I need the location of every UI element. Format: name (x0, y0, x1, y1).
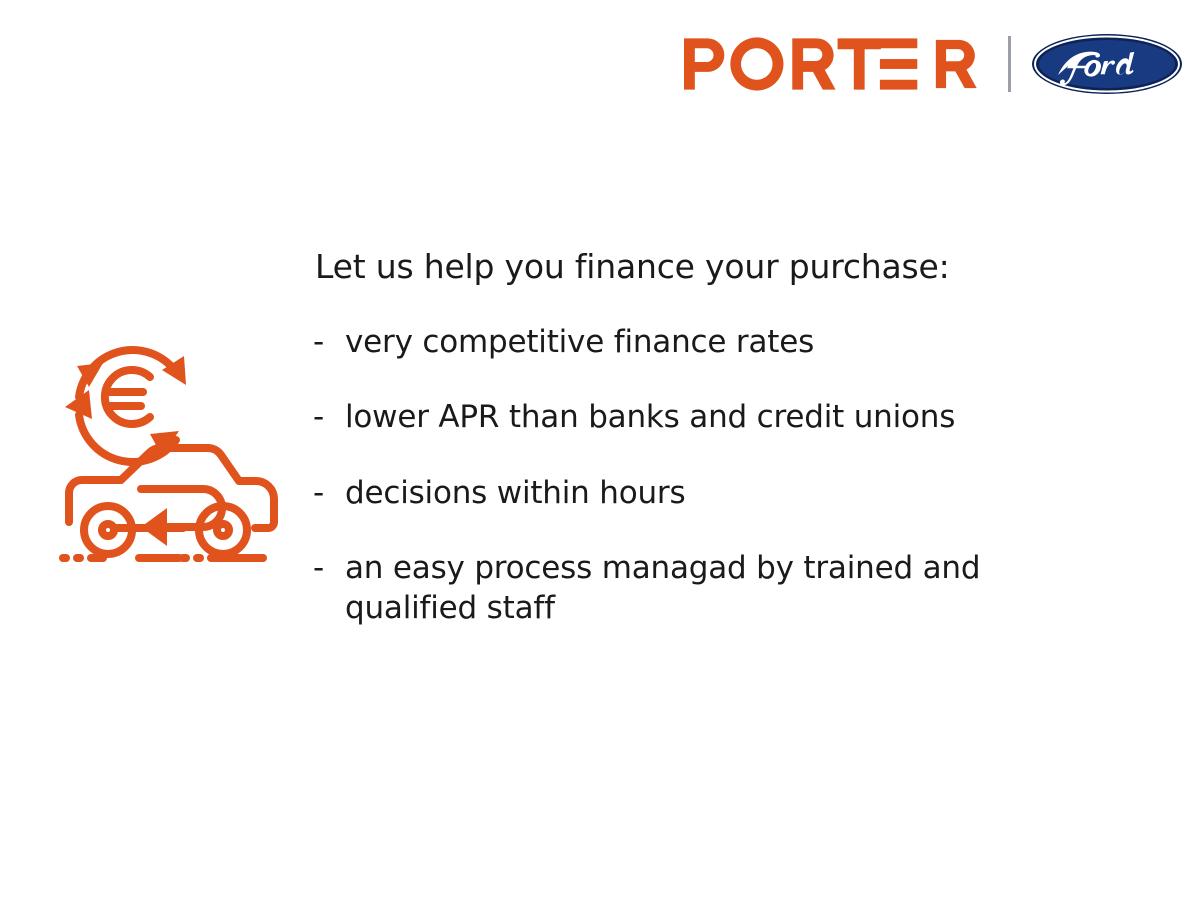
brand-logo-lockup (684, 32, 1183, 96)
finance-copy-block: Let us help you finance your purchase: -… (313, 248, 1113, 628)
list-item: - decisions within hours (313, 473, 1113, 513)
finance-promo-slide: Let us help you finance your purchase: -… (0, 0, 1200, 900)
list-item-label: decisions within hours (345, 473, 1113, 513)
bullet-marker: - (313, 397, 345, 437)
bullet-marker: - (313, 322, 345, 362)
list-item: - very competitive finance rates (313, 322, 1113, 362)
ford-logo (1031, 33, 1183, 95)
list-item: - an easy process managad by trained and… (313, 548, 1113, 629)
list-item-label: lower APR than banks and credit unions (345, 397, 1113, 437)
list-item-label: very competitive finance rates (345, 322, 1113, 362)
bullet-marker: - (313, 548, 345, 588)
car-finance-euro-icon (55, 322, 297, 570)
bullet-marker: - (313, 473, 345, 513)
list-item-label: an easy process managad by trained and q… (345, 548, 1113, 629)
logo-divider (1008, 36, 1011, 92)
porter-logo (684, 36, 986, 92)
list-item: - lower APR than banks and credit unions (313, 397, 1113, 437)
page-title: Let us help you finance your purchase: (315, 248, 1113, 287)
finance-benefits-list: - very competitive finance rates - lower… (313, 322, 1113, 628)
